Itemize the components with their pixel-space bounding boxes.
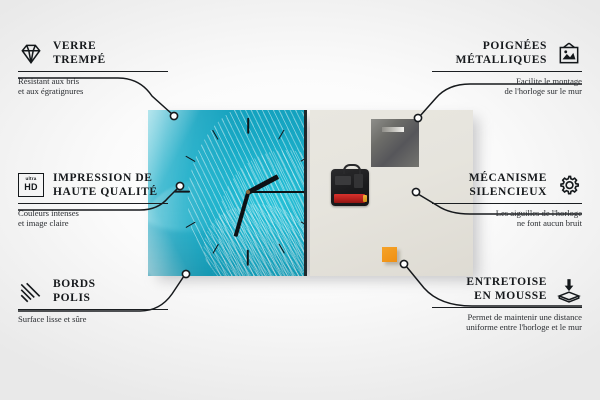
feature-subtitle: Permet de maintenir une distance uniform…: [382, 312, 582, 333]
feature-header: ultra HD IMPRESSION DE HAUTE QUALITÉ: [18, 172, 218, 199]
diamond-icon: [18, 41, 44, 67]
feature-subtitle: Couleurs intenses et image claire: [18, 208, 218, 229]
feature-title: VERRE TREMPÉ: [53, 40, 106, 67]
feature-divider: [18, 309, 168, 310]
feature-title: MÉCANISME SILENCIEUX: [469, 172, 547, 199]
feature-divider: [432, 71, 582, 72]
clock-marker: [306, 191, 307, 193]
feature-header: ENTRETOISE EN MOUSSE: [382, 276, 582, 303]
ultra-hd-icon: ultra HD: [18, 173, 44, 199]
feature-header: VERRE TREMPÉ: [18, 40, 218, 67]
mechanism-detail-left: [335, 176, 351, 185]
clock-marker: [212, 130, 219, 140]
battery: [334, 194, 365, 203]
feature-header: MÉCANISME SILENCIEUX: [382, 172, 582, 199]
second-hand: [248, 191, 306, 192]
mechanism-detail-right: [354, 174, 363, 188]
feature-subtitle: Les aiguilles de l'horloge ne font aucun…: [382, 208, 582, 229]
gear-icon: [556, 173, 582, 199]
feature-subtitle: Résistant aux bris et aux égratignures: [18, 76, 218, 97]
polished-edges-icon: [18, 279, 44, 305]
foam-spacer-icon: [556, 277, 582, 303]
feature-divider: [432, 203, 582, 204]
ultra-hd-icon-main-label: HD: [24, 183, 37, 192]
clock-marker: [300, 222, 307, 229]
feature-subtitle: Facilite le montage de l'horloge sur le …: [382, 76, 582, 97]
wall-mount-icon: [556, 41, 582, 67]
clock-marker: [212, 244, 219, 254]
feature-divider: [18, 203, 168, 204]
mechanism-hanger-loop: [343, 164, 361, 174]
feature-verre-trempe: VERRE TREMPÉ Résistant aux bris et aux é…: [18, 40, 218, 97]
feature-divider: [432, 307, 582, 308]
clock-marker: [278, 244, 285, 254]
feature-impression-haute-qualite: ultra HD IMPRESSION DE HAUTE QUALITÉ Cou…: [18, 172, 218, 229]
feature-header: BORDS POLIS: [18, 278, 218, 305]
foam-spacer: [382, 247, 397, 262]
clock-marker: [300, 156, 307, 163]
feature-header: POIGNÉES MÉTALLIQUES: [382, 40, 582, 67]
minute-hand: [233, 191, 250, 236]
feature-title: ENTRETOISE EN MOUSSE: [466, 276, 547, 303]
feature-bords-polis: BORDS POLIS Surface lisse et sûre: [18, 278, 218, 324]
feature-subtitle: Surface lisse et sûre: [18, 314, 218, 325]
feature-title: IMPRESSION DE HAUTE QUALITÉ: [53, 172, 158, 199]
clock-hands-cap: [246, 190, 250, 194]
metal-hanger-plate: [371, 119, 419, 167]
clock-marker: [247, 250, 249, 266]
feature-mecanisme-silencieux: MÉCANISME SILENCIEUX Les aiguilles de l'…: [382, 172, 582, 229]
silent-clock-mechanism: [331, 169, 369, 206]
feature-title: BORDS POLIS: [53, 278, 96, 305]
product-infographic: VERRE TREMPÉ Résistant aux bris et aux é…: [0, 0, 600, 400]
clock-marker: [186, 156, 196, 163]
feature-divider: [18, 71, 168, 72]
feature-poignees-metalliques: POIGNÉES MÉTALLIQUES Facilite le montage…: [382, 40, 582, 97]
feature-title: POIGNÉES MÉTALLIQUES: [456, 40, 547, 67]
clock-marker: [278, 130, 285, 140]
clock-marker: [247, 118, 249, 134]
feature-entretoise-en-mousse: ENTRETOISE EN MOUSSE Permet de maintenir…: [382, 276, 582, 333]
